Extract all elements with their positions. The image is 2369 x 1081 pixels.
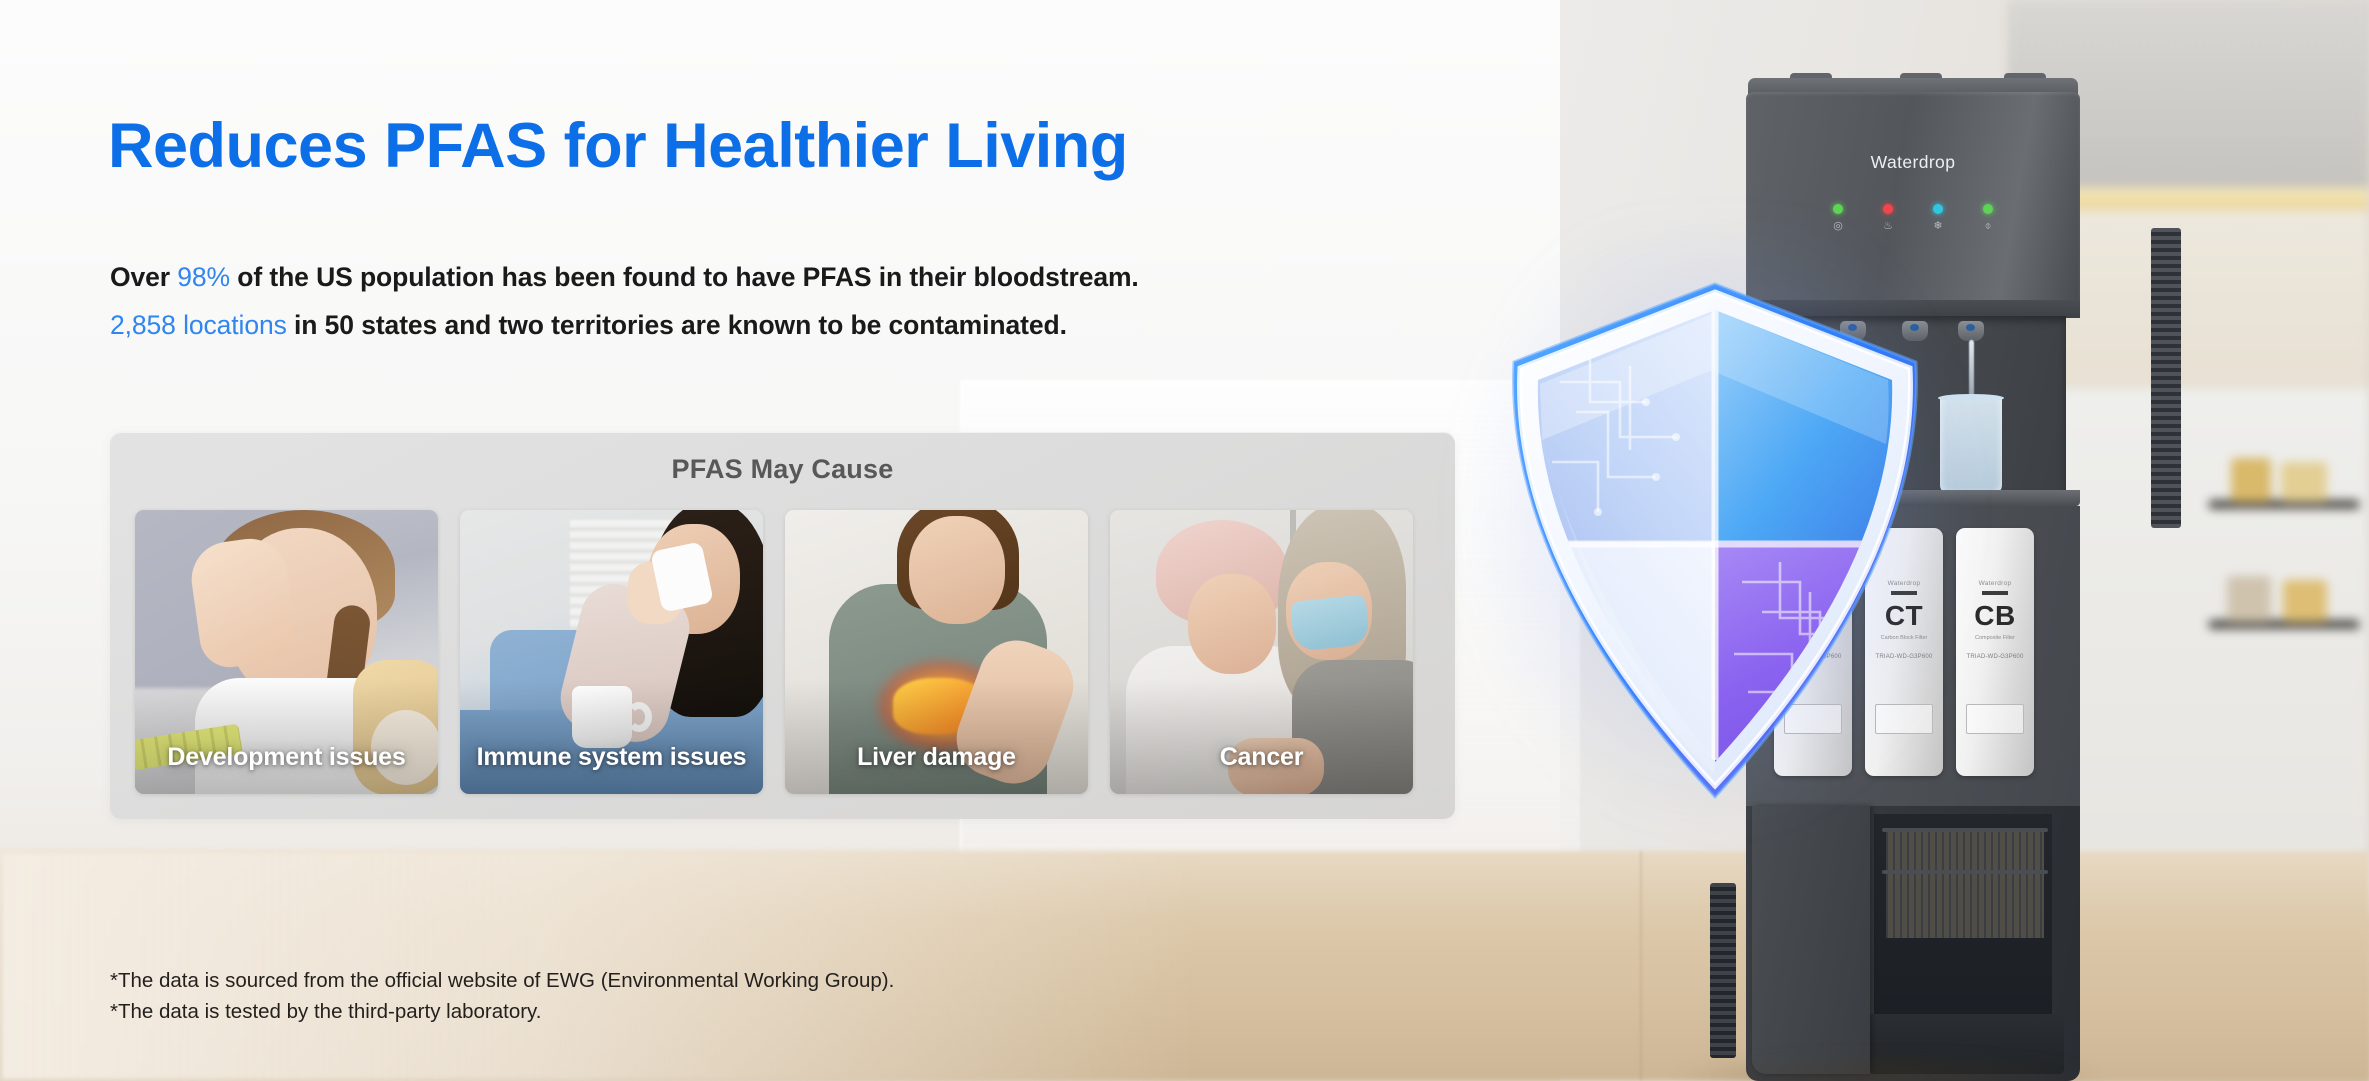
effect-card-label: Development issues	[135, 743, 438, 772]
cabinet-rack-bar-mid	[1882, 870, 2048, 874]
protection-shield-graphic	[1480, 262, 1950, 822]
footnotes: *The data is sourced from the official w…	[110, 965, 894, 1027]
effect-card-development-issues[interactable]: Development issues	[135, 510, 438, 794]
power-icon: ◎	[1833, 221, 1843, 232]
effect-card-list: Development issues Immune system	[135, 510, 1413, 794]
pfas-effects-panel: PFAS May Cause Development issues	[110, 432, 1455, 819]
power-indicator[interactable]: ◎	[1833, 204, 1843, 232]
photo-woman-head	[909, 516, 1005, 624]
subtitle-l1-pre: Over	[110, 262, 177, 292]
banner-stage: Reduces PFAS for Healthier Living Over 9…	[0, 0, 2369, 1081]
card-scrim	[460, 679, 763, 794]
footnote-testing: *The data is tested by the third-party l…	[110, 996, 894, 1027]
floor-seam-1	[1640, 851, 1642, 1081]
kitchen-jar-2	[2281, 462, 2327, 502]
cold-water-indicator-led	[1933, 204, 1943, 214]
card-scrim	[1110, 679, 1413, 794]
footnote-source: *The data is sourced from the official w…	[110, 965, 894, 996]
effect-card-liver-damage[interactable]: Liver damage	[785, 510, 1088, 794]
subtitle-line-2: 2,858 locations in 50 states and two ter…	[110, 310, 1067, 341]
card-scrim	[785, 679, 1088, 794]
hot-water-indicator-led	[1883, 204, 1893, 214]
power-indicator-led	[1833, 204, 1843, 214]
shield-icon	[1480, 262, 1950, 822]
effect-card-label: Liver damage	[785, 743, 1088, 772]
dispenser-floor-shadow	[1672, 1053, 2102, 1081]
hot-water-indicator[interactable]: ♨	[1883, 204, 1893, 232]
stat-contaminated-locations: 2,858 locations	[110, 310, 287, 340]
side-vent-upper	[2151, 228, 2181, 528]
kitchen-jar-4	[2283, 580, 2327, 622]
hot-water-icon: ♨	[1883, 221, 1893, 232]
subtitle-line-1: Over 98% of the US population has been f…	[110, 262, 1139, 293]
filter-icon: ⌽	[1985, 221, 1992, 232]
subtitle-l1-post: of the US population has been found to h…	[230, 262, 1139, 292]
panel-title: PFAS May Cause	[110, 454, 1455, 485]
effect-card-immune-system-issues[interactable]: Immune system issues	[460, 510, 763, 794]
kitchen-jar-1	[2231, 458, 2271, 502]
effect-card-cancer[interactable]: Cancer	[1110, 510, 1413, 794]
side-vent-lower	[1710, 883, 1736, 1058]
effect-card-label: Cancer	[1110, 743, 1413, 772]
filter-status-indicator[interactable]: ⌽	[1983, 204, 1993, 232]
cold-water-indicator[interactable]: ❄	[1933, 204, 1943, 232]
indicator-light-row: ◎ ♨ ❄ ⌽	[1746, 204, 2080, 232]
snowflake-icon: ❄	[1933, 221, 1942, 232]
brand-logo: Waterdrop	[1746, 152, 2080, 173]
stat-population-percent: 98%	[177, 262, 230, 292]
filter-status-led	[1983, 204, 1993, 214]
kitchen-jar-3	[2227, 576, 2271, 622]
subtitle-l2-post: in 50 states and two territories are kno…	[287, 310, 1067, 340]
page-title: Reduces PFAS for Healthier Living	[108, 112, 1128, 180]
card-scrim	[135, 679, 438, 794]
effect-card-label: Immune system issues	[460, 743, 763, 772]
photo-patient-face	[1188, 574, 1276, 674]
